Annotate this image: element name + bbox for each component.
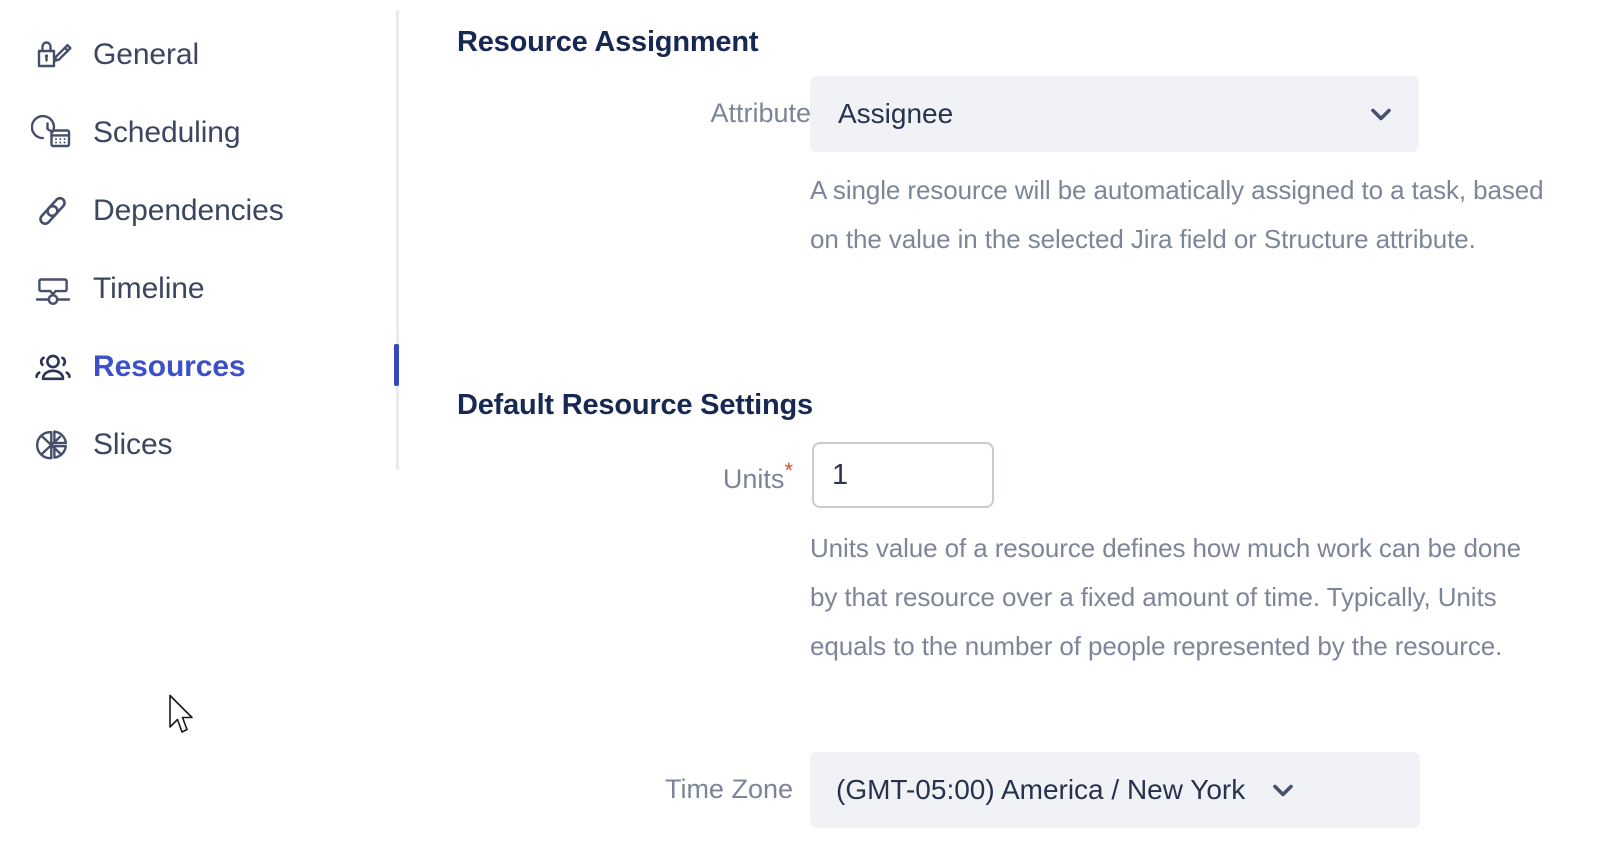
chevron-down-icon (1267, 774, 1299, 806)
sidebar-item-label: Dependencies (93, 194, 284, 228)
sidebar-item-scheduling[interactable]: Scheduling (0, 94, 398, 172)
attribute-select-value: Assignee (838, 98, 953, 130)
units-label-text: Units (723, 464, 785, 494)
attribute-help-text: A single resource will be automatically … (810, 166, 1558, 264)
attribute-label: Attribute (641, 98, 811, 129)
time-zone-label: Time Zone (613, 774, 793, 805)
units-label: Units* (638, 460, 793, 495)
units-input[interactable]: 1 (812, 442, 994, 508)
attribute-select[interactable]: Assignee (810, 76, 1419, 152)
clock-calendar-icon (30, 110, 76, 156)
sidebar-item-label: Slices (93, 428, 172, 462)
link-chain-icon (30, 188, 76, 234)
units-help-text: Units value of a resource defines how mu… (810, 524, 1550, 671)
sidebar-nav: General (0, 16, 398, 484)
default-resource-settings-title: Default Resource Settings (457, 389, 813, 422)
sidebar-item-label: Scheduling (93, 116, 240, 150)
time-zone-select[interactable]: (GMT-05:00) America / New York (810, 752, 1420, 828)
timeline-marker-icon (30, 266, 76, 312)
sidebar-item-dependencies[interactable]: Dependencies (0, 172, 398, 250)
lock-edit-icon (30, 32, 76, 78)
resource-assignment-title: Resource Assignment (457, 26, 758, 59)
units-input-value: 1 (832, 459, 848, 492)
sidebar-item-label: Timeline (93, 272, 204, 306)
pie-slices-icon (30, 422, 76, 468)
sidebar-item-timeline[interactable]: Timeline (0, 250, 398, 328)
chevron-down-icon (1365, 98, 1397, 130)
sidebar-item-label: General (93, 38, 199, 72)
settings-content: Resource Assignment Attribute Assignee A… (398, 0, 1609, 863)
settings-sidebar: General (0, 0, 398, 863)
people-group-icon (30, 344, 76, 390)
sidebar-item-resources[interactable]: Resources (0, 328, 398, 406)
sidebar-item-slices[interactable]: Slices (0, 406, 398, 484)
settings-page: General (0, 0, 1609, 863)
time-zone-select-value: (GMT-05:00) America / New York (836, 774, 1245, 806)
sidebar-item-general[interactable]: General (0, 16, 398, 94)
required-marker: * (784, 458, 793, 483)
sidebar-item-label: Resources (93, 350, 246, 384)
